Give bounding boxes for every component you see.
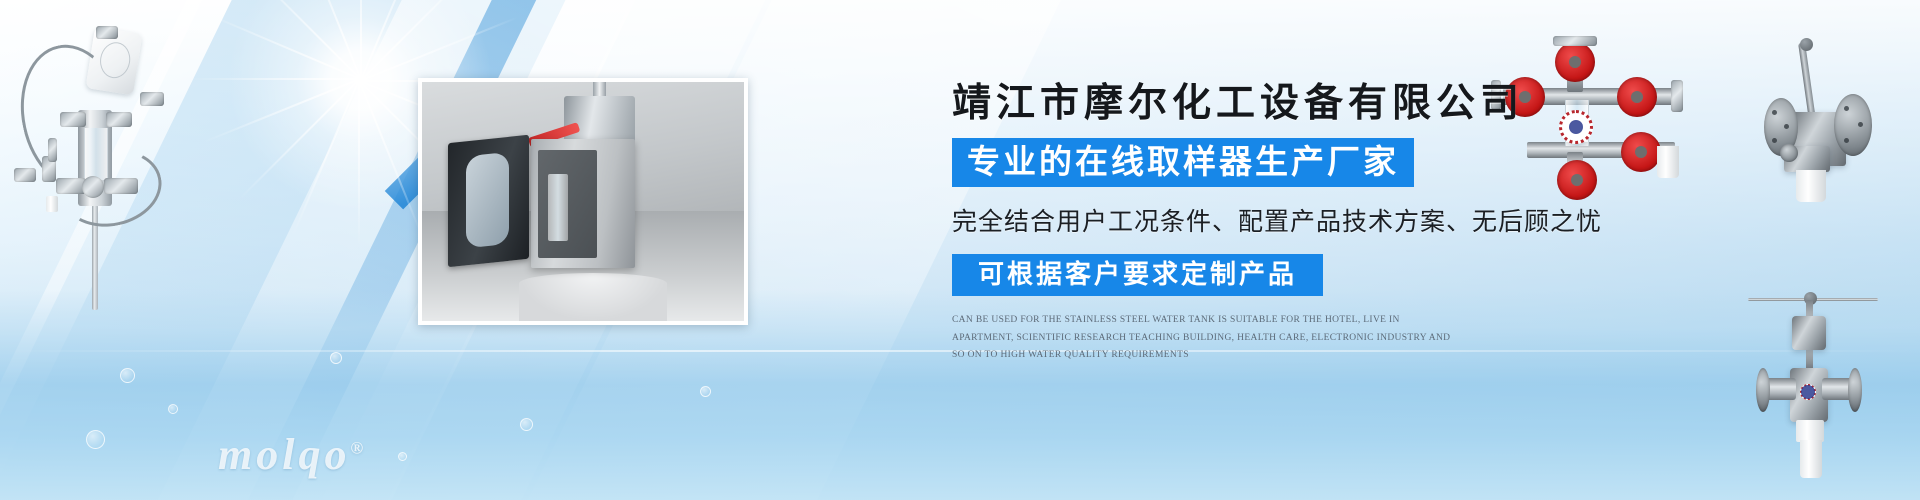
photo-pedestal [519, 273, 667, 321]
product-lever-operated-flanged-sampling-valve [1762, 28, 1920, 218]
flange [82, 176, 104, 198]
registered-mark-icon: ® [350, 438, 363, 457]
valve-head [564, 96, 635, 144]
product-t-handle-flanged-sampling-valve [1748, 278, 1920, 488]
sample-bottle-lower [1800, 440, 1822, 478]
bubble-icon [700, 386, 711, 397]
flange-right [1848, 368, 1862, 412]
watermark-text: molqo [218, 430, 350, 479]
flange [96, 26, 118, 39]
sample-bottle [1796, 420, 1824, 442]
cabinet-interior [538, 150, 598, 258]
sample-bottle [548, 174, 568, 241]
gauge-icon [1780, 144, 1798, 162]
photo-inner [422, 82, 744, 321]
watermark-logo: molqo® [218, 429, 363, 480]
bubble-icon [168, 404, 178, 414]
english-description: CAN BE USED FOR THE STAINLESS STEEL WATE… [952, 312, 1457, 365]
red-handwheel [1555, 42, 1595, 82]
relief-valve [48, 138, 57, 162]
bubble-icon [398, 452, 407, 461]
bubble-icon [120, 368, 135, 383]
cta-badge-custom-products[interactable]: 可根据客户要求定制产品 [952, 254, 1323, 296]
bonnet [1792, 316, 1826, 350]
sample-cup [46, 196, 58, 212]
cabinet-door [448, 135, 529, 268]
flange-right [1834, 94, 1872, 156]
flange [60, 112, 86, 127]
banner-copy: 靖江市摩尔化工设备有限公司 专业的在线取样器生产厂家 完全结合用户工况条件、配置… [952, 84, 1692, 365]
bubble-icon [86, 430, 105, 449]
product-photo-cabinet-sampler [418, 78, 748, 325]
tagline-badge: 专业的在线取样器生产厂家 [952, 138, 1414, 187]
flange [140, 92, 164, 106]
sampler-cabinet [531, 139, 634, 268]
flange [104, 178, 138, 194]
bubble-icon [330, 352, 342, 364]
product-pole-mounted-stainless-sampler [0, 0, 190, 330]
flange [1553, 36, 1597, 46]
lever-knob [1800, 38, 1813, 51]
subline-text: 完全结合用户工况条件、配置产品技术方案、无后顾之忧 [952, 202, 1692, 238]
bubble-icon [520, 418, 533, 431]
brand-seal-icon [1800, 384, 1816, 400]
flange [106, 112, 132, 127]
company-name: 靖江市摩尔化工设备有限公司 [952, 84, 1692, 125]
flange [14, 168, 36, 182]
flange-left [1756, 368, 1770, 412]
promo-banner: 靖江市摩尔化工设备有限公司 专业的在线取样器生产厂家 完全结合用户工况条件、配置… [0, 0, 1920, 500]
sample-cup [1796, 170, 1826, 202]
